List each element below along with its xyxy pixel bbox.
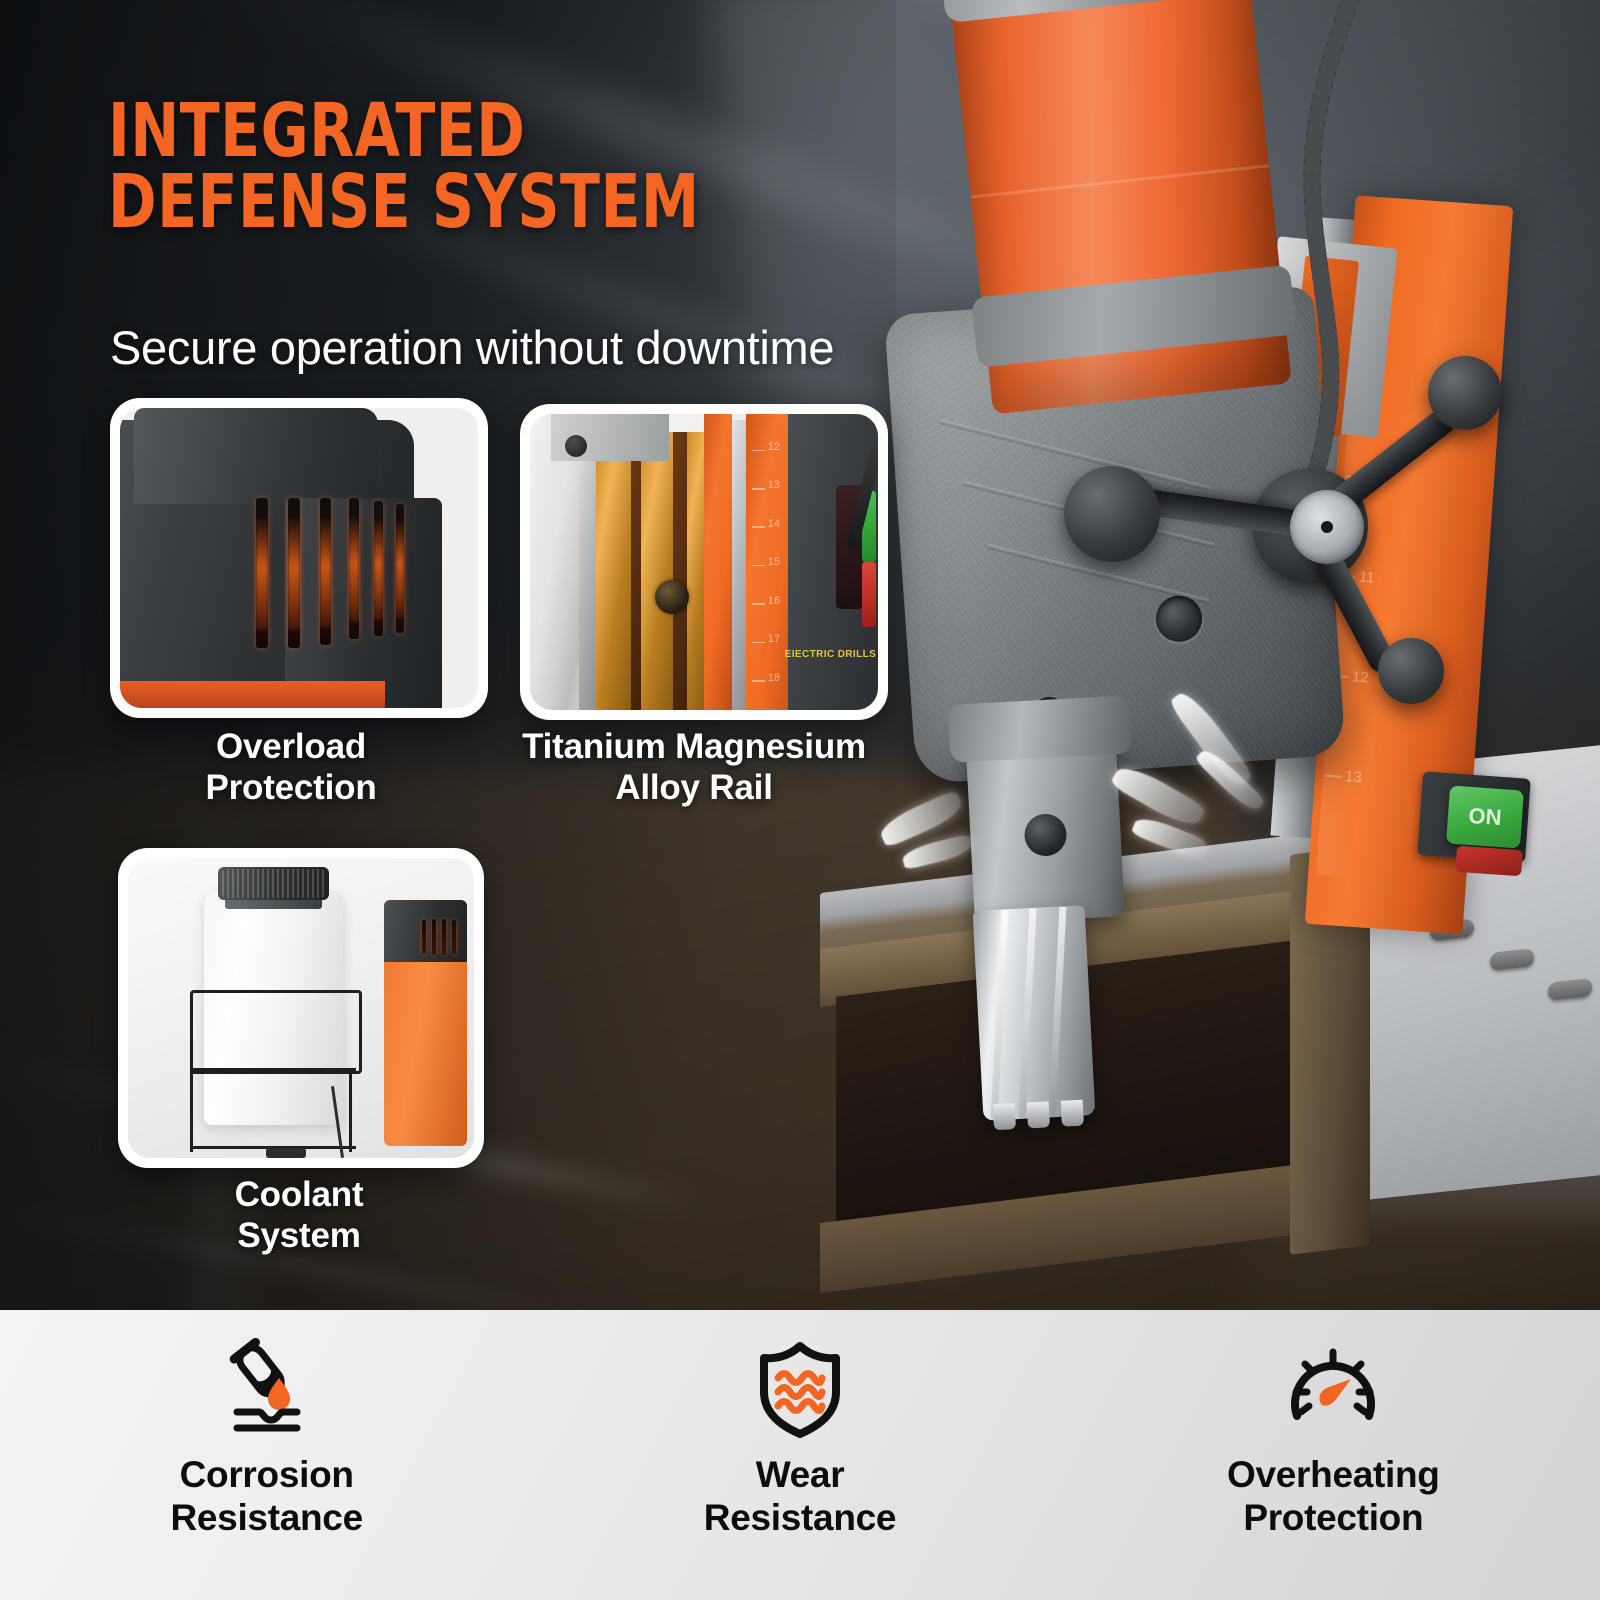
benefit-label-line-1: Corrosion bbox=[170, 1454, 362, 1497]
switch-panel-label: EIECTRIC DRILLS bbox=[785, 650, 877, 660]
feature-caption-overload: Overload Protection bbox=[96, 726, 486, 809]
test-tube-drop-icon bbox=[215, 1336, 319, 1440]
benefit-overheating-protection: Overheating Protection bbox=[1067, 1310, 1600, 1600]
caption-line-2: Alloy Rail bbox=[484, 767, 904, 808]
benefit-label-line-2: Protection bbox=[1227, 1497, 1440, 1540]
promo-graphic: 9 10 11 12 13 bbox=[0, 0, 1600, 1600]
benefit-corrosion-resistance: Corrosion Resistance bbox=[0, 1310, 533, 1600]
benefit-wear-resistance: Wear Resistance bbox=[533, 1310, 1066, 1600]
benefit-label-line-1: Overheating bbox=[1227, 1454, 1440, 1497]
coolant-system-image bbox=[128, 858, 474, 1158]
benefit-label: Overheating Protection bbox=[1227, 1454, 1440, 1540]
shield-waves-icon bbox=[748, 1336, 852, 1440]
caption-line-1: Overload bbox=[96, 726, 486, 767]
benefit-label-line-2: Resistance bbox=[704, 1497, 896, 1540]
benefit-label: Corrosion Resistance bbox=[170, 1454, 362, 1540]
feature-card-overload-protection[interactable] bbox=[110, 398, 488, 718]
benefit-label: Wear Resistance bbox=[704, 1454, 896, 1540]
benefit-label-line-2: Resistance bbox=[170, 1497, 362, 1540]
caption-line-2: Protection bbox=[96, 767, 486, 808]
alloy-rail-image: 12 13 14 15 16 17 18 EIECTRIC DRILLS bbox=[530, 414, 878, 710]
benefit-label-line-1: Wear bbox=[704, 1454, 896, 1497]
feature-caption-coolant: Coolant System bbox=[104, 1174, 494, 1257]
overload-protection-image bbox=[120, 408, 478, 708]
feature-caption-alloy-rail: Titanium Magnesium Alloy Rail bbox=[484, 726, 904, 809]
gauge-icon bbox=[1281, 1336, 1385, 1440]
caption-line-1: Titanium Magnesium bbox=[484, 726, 904, 767]
benefits-bar: Corrosion Resistance Wear Resistance bbox=[0, 1310, 1600, 1600]
feature-card-alloy-rail[interactable]: 12 13 14 15 16 17 18 EIECTRIC DRILLS bbox=[520, 404, 888, 720]
caption-line-2: System bbox=[104, 1215, 494, 1256]
caption-line-1: Coolant bbox=[104, 1174, 494, 1215]
feature-card-coolant-system[interactable] bbox=[118, 848, 484, 1168]
